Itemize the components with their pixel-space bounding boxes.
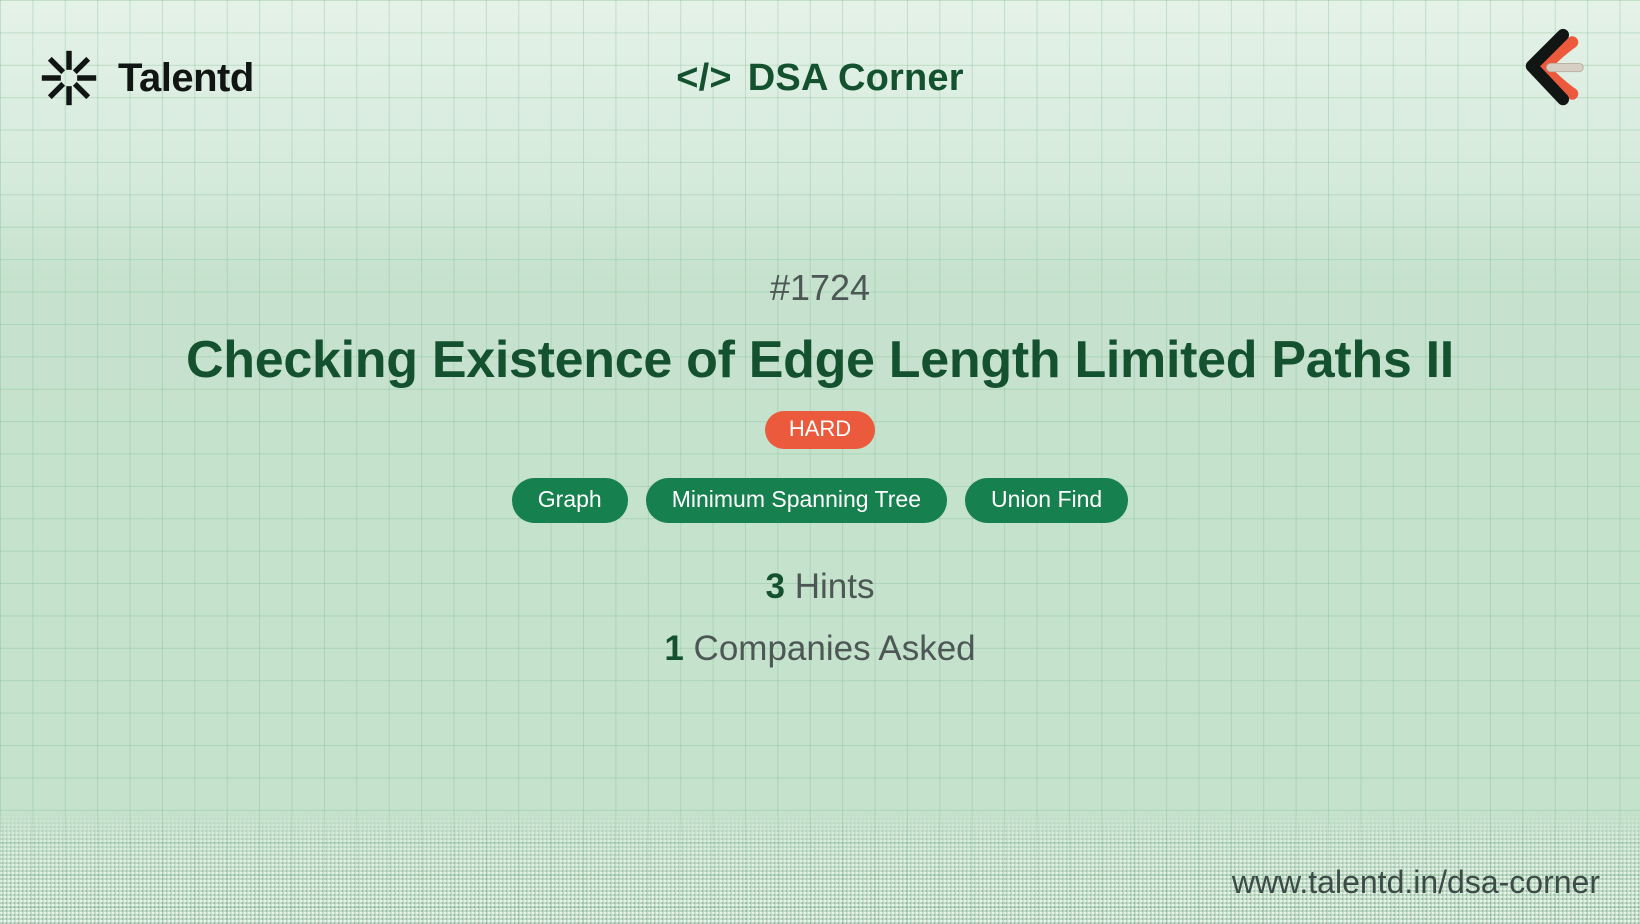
code-brackets-icon: </>: [676, 57, 732, 100]
tag-list: Graph Minimum Spanning Tree Union Find: [512, 478, 1128, 523]
chevron-c-logo-icon: [1506, 22, 1598, 114]
problem-title: Checking Existence of Edge Length Limite…: [186, 332, 1454, 389]
stat-hints-value: 3: [766, 567, 785, 606]
stat-companies-label: Companies Asked: [694, 629, 976, 668]
footer-url[interactable]: www.talentd.in/dsa-corner: [1232, 866, 1600, 898]
stat-hints: 3 Hints: [766, 568, 875, 607]
stat-hints-label: Hints: [795, 567, 875, 606]
tag-pill[interactable]: Minimum Spanning Tree: [646, 478, 947, 523]
header-title-label: DSA Corner: [748, 57, 964, 100]
brand-name-label: Talentd: [118, 56, 254, 101]
stat-companies-value: 1: [664, 629, 683, 668]
tag-pill[interactable]: Graph: [512, 478, 628, 523]
main-content: #1724 Checking Existence of Edge Length …: [0, 156, 1640, 816]
header-title: </> DSA Corner: [676, 57, 964, 100]
header-bar: Talentd </> DSA Corner: [0, 0, 1640, 156]
tag-pill[interactable]: Union Find: [965, 478, 1128, 523]
dsa-corner-card: Talentd </> DSA Corner #1724 Checking Ex…: [0, 0, 1640, 924]
brand-logo[interactable]: Talentd: [40, 49, 254, 107]
difficulty-badge: HARD: [765, 411, 875, 449]
problem-number: #1724: [770, 270, 870, 306]
asterisk-starburst-icon: [40, 49, 98, 107]
stat-companies: 1 Companies Asked: [664, 630, 975, 669]
